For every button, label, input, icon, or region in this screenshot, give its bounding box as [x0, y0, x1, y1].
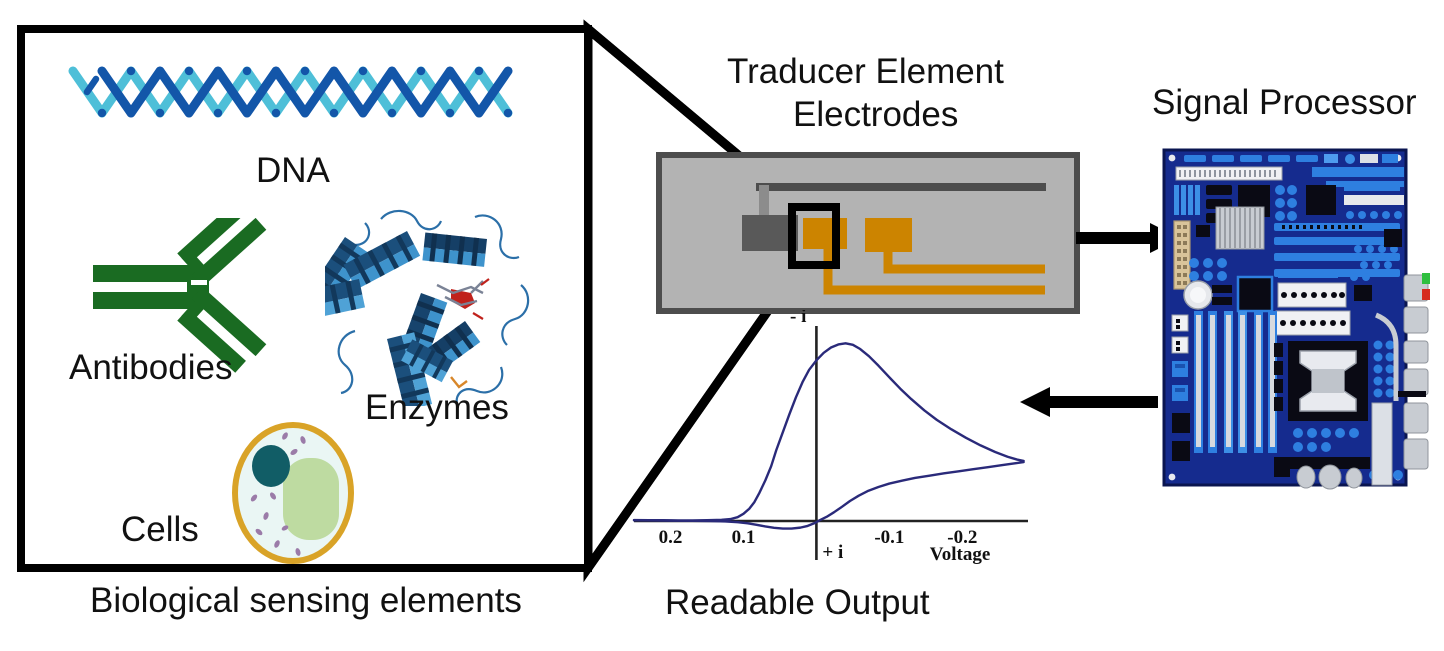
curve-reverse-scan [634, 462, 1024, 529]
processor-title: Signal Processor [1152, 83, 1417, 122]
y-axis-bottom-label: + i [822, 542, 843, 563]
bio-panel-caption: Biological sensing elements [90, 581, 522, 620]
enzymes-label: Enzymes [365, 388, 509, 427]
x-tick-label: -0.1 [874, 527, 904, 548]
antibodies-label: Antibodies [69, 348, 232, 387]
x-axis-label: Voltage [930, 544, 991, 565]
protein-ribbon-icon [325, 201, 540, 406]
motherboard-icon [1158, 145, 1430, 490]
led-red-icon [1422, 289, 1430, 300]
figure-canvas: DNA [0, 0, 1444, 651]
chart-axes [634, 326, 1028, 560]
readable-output-chart: 0.20.1-0.1-0.2 - i + i Voltage [620, 310, 1040, 575]
reference-stub [759, 185, 769, 219]
biological-sensing-elements-box: DNA [17, 25, 592, 572]
transducer-chip [656, 152, 1080, 314]
curve-forward-scan [634, 343, 1024, 520]
x-tick-label: 0.1 [732, 527, 756, 548]
pin-header-connector [1174, 221, 1190, 289]
dna-helix-icon [67, 57, 537, 127]
processor-to-output-arrow [1018, 386, 1170, 418]
working-electrode-pad [803, 218, 847, 249]
transducer-title-line1: Traducer Element [727, 52, 1004, 91]
chart-curves [634, 343, 1024, 528]
y-axis-top-label: - i [790, 310, 806, 327]
chart-caption: Readable Output [665, 583, 930, 622]
dna-label: DNA [256, 151, 330, 190]
reference-trace [756, 183, 1046, 191]
x-tick-label: 0.2 [659, 527, 683, 548]
transducer-title-line2: Electrodes [793, 95, 958, 134]
led-green-icon [1422, 273, 1430, 284]
cells-label: Cells [121, 510, 199, 549]
auxiliary-electrode-pad [865, 218, 912, 252]
cell-icon [223, 418, 363, 568]
